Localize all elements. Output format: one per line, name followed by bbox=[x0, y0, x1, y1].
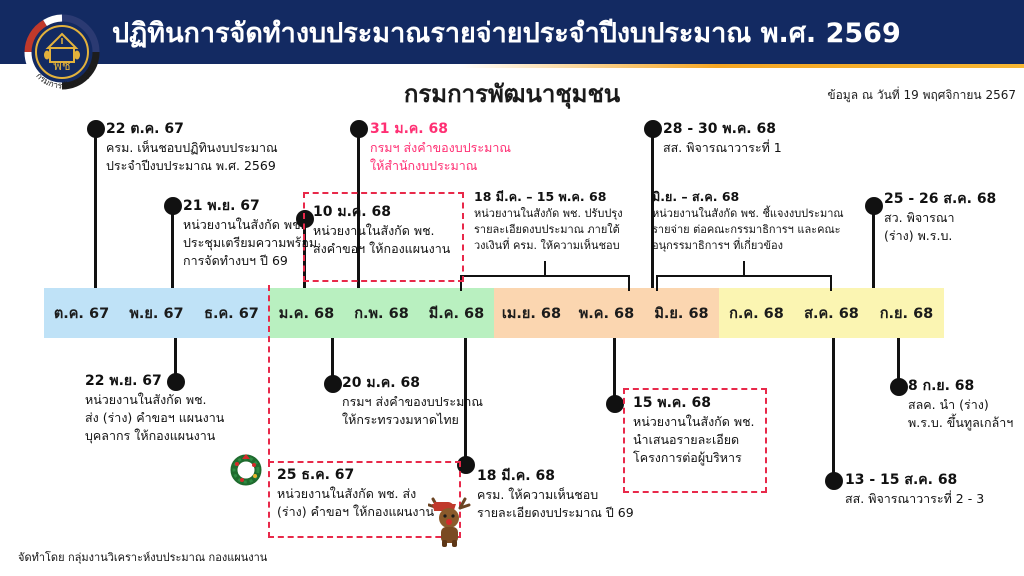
event-detail-line: ให้กระทรวงมหาดไทย bbox=[342, 411, 483, 429]
connector-dot bbox=[865, 197, 883, 215]
timeline-month: ก.ย. 68 bbox=[869, 302, 944, 325]
connector-dot bbox=[324, 375, 342, 393]
timeline-quarter-q3: เม.ย. 68 พ.ค. 68 มิ.ย. 68 bbox=[494, 288, 719, 338]
connector-dot bbox=[825, 472, 843, 490]
event-detail-line: ส่งคำขอฯ ให้กองแผนงาน bbox=[313, 240, 450, 258]
event-detail-line: สว. พิจารณา bbox=[884, 209, 996, 227]
event-date: 22 พ.ย. 67 bbox=[85, 372, 224, 391]
event-detail-line: หน่วยงานในสังกัด พช. ส่ง bbox=[277, 485, 434, 503]
event-detail-line: อนุกรรมาธิการฯ ที่เกี่ยวข้อง bbox=[652, 238, 844, 254]
range-bracket bbox=[460, 275, 630, 291]
connector-stem bbox=[832, 338, 835, 478]
event-callout-21-nov-67: 21 พ.ย. 67 หน่วยงานในสังกัด พช. ประชุมเต… bbox=[183, 197, 317, 270]
event-detail-line: ประจำปีงบประมาณ พ.ศ. 2569 bbox=[106, 157, 278, 175]
event-detail-line: หน่วยงานในสังกัด พช. ชี้แจงงบประมาณ bbox=[652, 206, 844, 222]
event-callout-25-26-aug-68: 25 - 26 ส.ค. 68 สว. พิจารณา (ร่าง) พ.ร.บ… bbox=[884, 190, 996, 245]
timeline-strip: ต.ค. 67 พ.ย. 67 ธ.ค. 67 ม.ค. 68 ก.พ. 68 … bbox=[44, 288, 944, 338]
timeline-quarter-q1: ต.ค. 67 พ.ย. 67 ธ.ค. 67 bbox=[44, 288, 269, 338]
header-accent-line bbox=[0, 64, 1024, 68]
event-date: 13 - 15 ส.ค. 68 bbox=[845, 471, 984, 490]
event-callout-31-jan-68: 31 ม.ค. 68 กรมฯ ส่งคำของบประมาณ ให้สำนัก… bbox=[370, 120, 511, 175]
timeline-month: ก.ค. 68 bbox=[719, 302, 794, 325]
event-detail-line: นำเสนอรายละเอียด bbox=[633, 431, 755, 449]
connector-stem bbox=[94, 128, 97, 288]
event-callout-28-30-may-68: 28 - 30 พ.ค. 68 สส. พิจารณาวาระที่ 1 bbox=[663, 120, 782, 157]
timeline-quarter-q4: ก.ค. 68 ส.ค. 68 ก.ย. 68 bbox=[719, 288, 944, 338]
event-callout-20-jan-68: 20 ม.ค. 68 กรมฯ ส่งคำของบประมาณ ให้กระทร… bbox=[342, 374, 483, 429]
range-bracket bbox=[656, 275, 832, 291]
event-date: มิ.ย. – ส.ค. 68 bbox=[652, 189, 844, 206]
christmas-wreath-icon bbox=[228, 452, 264, 492]
timeline-month: ต.ค. 67 bbox=[44, 302, 119, 325]
event-callout-18-mar-15-may-68: 18 มี.ค. – 15 พ.ค. 68 หน่วยงานในสังกัด พ… bbox=[474, 189, 623, 254]
svg-text:พช: พช bbox=[53, 59, 71, 74]
event-date: 25 ธ.ค. 67 bbox=[277, 466, 434, 485]
connector-stem bbox=[872, 205, 875, 288]
connector-dot bbox=[164, 197, 182, 215]
event-detail-line: วงเงินที่ ครม. ให้ความเห็นชอบ bbox=[474, 238, 623, 254]
event-date: 25 - 26 ส.ค. 68 bbox=[884, 190, 996, 209]
event-detail-line: หน่วยงานในสังกัด พช. ปรับปรุง bbox=[474, 206, 623, 222]
timeline-month: พ.ย. 67 bbox=[119, 302, 194, 325]
timeline-month: ธ.ค. 67 bbox=[194, 302, 269, 325]
event-detail-line: ครม. ให้ความเห็นชอบ bbox=[477, 486, 634, 504]
event-date: 31 ม.ค. 68 bbox=[370, 120, 511, 139]
footer-credit: จัดทำโดย กลุ่มงานวิเคราะห์งบประมาณ กองแผ… bbox=[18, 548, 267, 566]
event-detail-line: ประชุมเตรียมความพร้อม bbox=[183, 234, 317, 252]
event-detail-line: (ร่าง) คำขอฯ ให้กองแผนงาน bbox=[277, 503, 434, 521]
event-callout-13-15-aug-68: 13 - 15 ส.ค. 68 สส. พิจารณาวาระที่ 2 - 3 bbox=[845, 471, 984, 508]
dashed-link-line bbox=[268, 285, 270, 465]
data-as-of-stamp: ข้อมูล ณ วันที่ 19 พฤศจิกายน 2567 bbox=[770, 86, 1016, 105]
timeline-month: พ.ค. 68 bbox=[569, 302, 644, 325]
event-detail-line: ให้สำนักงบประมาณ bbox=[370, 157, 511, 175]
connector-dot bbox=[606, 395, 624, 413]
event-date: 18 มี.ค. – 15 พ.ค. 68 bbox=[474, 189, 623, 206]
event-detail-line: สส. พิจารณาวาระที่ 2 - 3 bbox=[845, 490, 984, 508]
event-date: 15 พ.ค. 68 bbox=[633, 394, 755, 413]
event-callout-10-jan-68: 10 ม.ค. 68 หน่วยงานในสังกัด พช. ส่งคำขอฯ… bbox=[313, 203, 450, 258]
timeline-month: เม.ย. 68 bbox=[494, 302, 569, 325]
event-callout-jun-aug-68: มิ.ย. – ส.ค. 68 หน่วยงานในสังกัด พช. ชี้… bbox=[652, 189, 844, 254]
event-detail-line: หน่วยงานในสังกัด พช. bbox=[313, 222, 450, 240]
event-detail-line: รายละเอียดงบประมาณ ภายใต้ bbox=[474, 222, 623, 238]
event-detail-line: หน่วยงานในสังกัด พช. bbox=[633, 413, 755, 431]
event-detail-line: ครม. เห็นชอบปฏิทินงบประมาณ bbox=[106, 139, 278, 157]
event-detail-line: สลค. นำ (ร่าง) bbox=[908, 396, 1013, 414]
event-detail-line: รายจ่าย ต่อคณะกรรมาธิการฯ และคณะ bbox=[652, 222, 844, 238]
connector-dot bbox=[87, 120, 105, 138]
event-detail-line: กรมฯ ส่งคำของบประมาณ bbox=[342, 393, 483, 411]
timeline-month: ส.ค. 68 bbox=[794, 302, 869, 325]
page-title: ปฏิทินการจัดทำงบประมาณรายจ่ายประจำปีงบปร… bbox=[112, 18, 942, 49]
infographic-canvas: พช กรมการพัฒนาชุมชน ปฏิทินการจัดทำงบประม… bbox=[0, 0, 1024, 576]
timeline-quarter-q2: ม.ค. 68 ก.พ. 68 มี.ค. 68 bbox=[269, 288, 494, 338]
event-date: 22 ต.ค. 67 bbox=[106, 120, 278, 139]
event-date: 18 มี.ค. 68 bbox=[477, 467, 634, 486]
event-detail-line: (ร่าง) พ.ร.บ. bbox=[884, 227, 996, 245]
timeline-month: มี.ค. 68 bbox=[419, 302, 494, 325]
event-date: 10 ม.ค. 68 bbox=[313, 203, 450, 222]
event-callout-18-mar-68: 18 มี.ค. 68 ครม. ให้ความเห็นชอบ รายละเอี… bbox=[477, 467, 634, 522]
event-callout-8-sep-68: 8 ก.ย. 68 สลค. นำ (ร่าง) พ.ร.บ. ขึ้นทูลเ… bbox=[908, 377, 1013, 432]
event-date: 28 - 30 พ.ค. 68 bbox=[663, 120, 782, 139]
timeline-month: ก.พ. 68 bbox=[344, 302, 419, 325]
event-callout-22-nov-67: 22 พ.ย. 67 หน่วยงานในสังกัด พช. ส่ง (ร่า… bbox=[85, 372, 224, 445]
event-detail-line: หน่วยงานในสังกัด พช. bbox=[183, 216, 317, 234]
connector-stem bbox=[613, 338, 616, 402]
event-detail-line: พ.ร.บ. ขึ้นทูลเกล้าฯ bbox=[908, 414, 1013, 432]
event-date: 21 พ.ย. 67 bbox=[183, 197, 317, 216]
timeline-month: มิ.ย. 68 bbox=[644, 302, 719, 325]
event-callout-25-dec-67: 25 ธ.ค. 67 หน่วยงานในสังกัด พช. ส่ง (ร่า… bbox=[277, 466, 434, 521]
timeline-month: ม.ค. 68 bbox=[269, 302, 344, 325]
connector-stem bbox=[171, 205, 174, 288]
event-detail-line: ส่ง (ร่าง) คำขอฯ แผนงาน bbox=[85, 409, 224, 427]
connector-dot bbox=[350, 120, 368, 138]
event-detail-line: โครงการต่อผู้บริหาร bbox=[633, 449, 755, 467]
reindeer-icon bbox=[428, 492, 472, 552]
event-detail-line: หน่วยงานในสังกัด พช. bbox=[85, 391, 224, 409]
event-date: 20 ม.ค. 68 bbox=[342, 374, 483, 393]
event-date: 8 ก.ย. 68 bbox=[908, 377, 1013, 396]
event-callout-15-may-68: 15 พ.ค. 68 หน่วยงานในสังกัด พช. นำเสนอรา… bbox=[633, 394, 755, 467]
event-detail-line: การจัดทำงบฯ ปี 69 bbox=[183, 252, 317, 270]
event-detail-line: บุคลากร ให้กองแผนงาน bbox=[85, 427, 224, 445]
connector-dot bbox=[890, 378, 908, 396]
event-callout-22-oct-67: 22 ต.ค. 67 ครม. เห็นชอบปฏิทินงบประมาณ ปร… bbox=[106, 120, 278, 175]
connector-dot bbox=[644, 120, 662, 138]
event-detail-line: กรมฯ ส่งคำของบประมาณ bbox=[370, 139, 511, 157]
event-detail-line: สส. พิจารณาวาระที่ 1 bbox=[663, 139, 782, 157]
event-detail-line: รายละเอียดงบประมาณ ปี 69 bbox=[477, 504, 634, 522]
